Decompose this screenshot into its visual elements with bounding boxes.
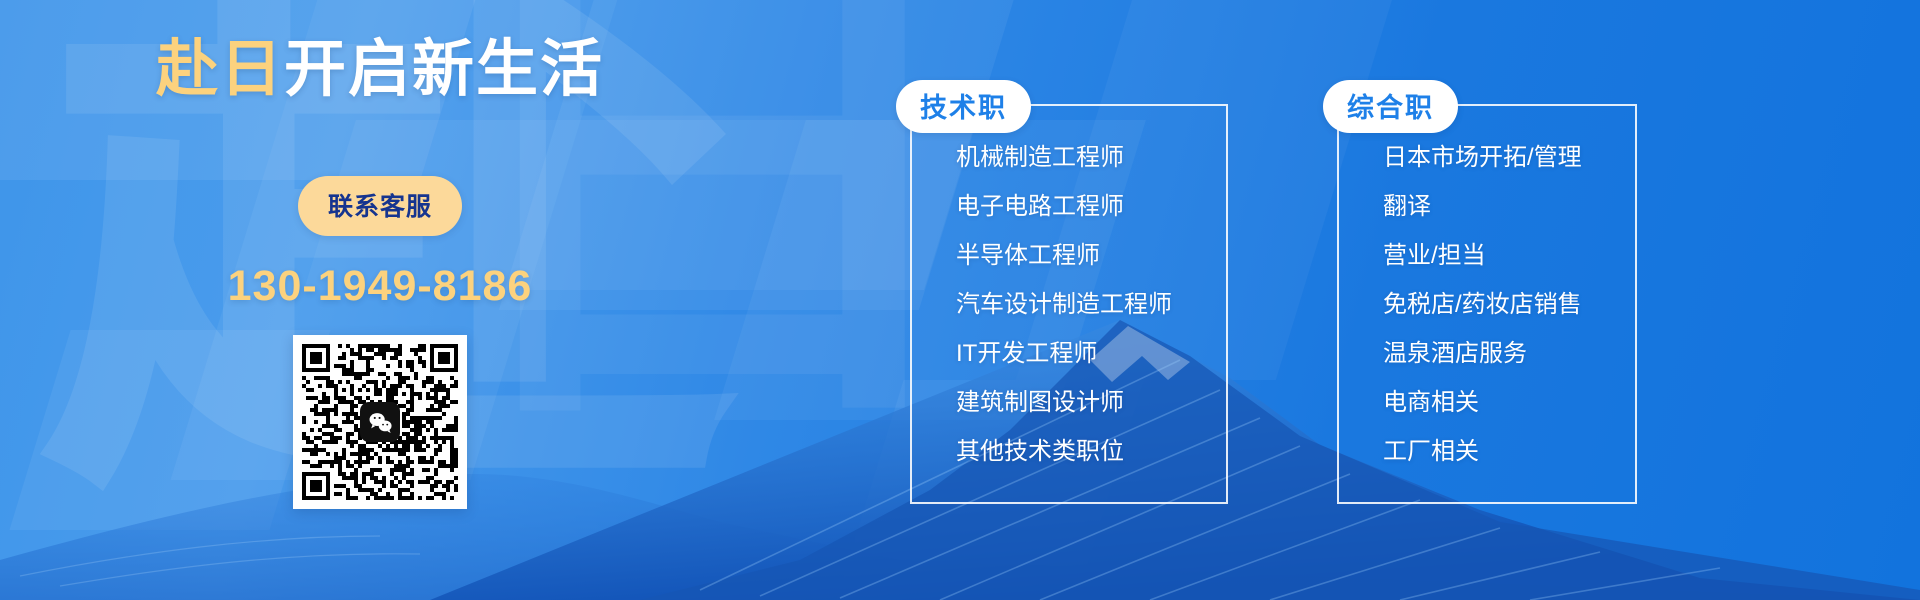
job-list-technical: 机械制造工程师 电子电路工程师 半导体工程师 汽车设计制造工程师 IT开发工程师… xyxy=(956,146,1196,464)
headline-highlight: 赴日 xyxy=(156,35,284,104)
list-item[interactable]: 电子电路工程师 xyxy=(956,195,1196,219)
category-badge-general[interactable]: 综合职 xyxy=(1323,80,1458,133)
phone-number[interactable]: 130-1949-8186 xyxy=(228,262,533,311)
list-item[interactable]: 免税店/药妆店销售 xyxy=(1383,293,1605,317)
list-item[interactable]: 建筑制图设计师 xyxy=(956,391,1196,415)
category-badge-technical[interactable]: 技术职 xyxy=(896,80,1031,133)
list-item[interactable]: 温泉酒店服务 xyxy=(1383,342,1605,366)
list-item[interactable]: 营业/担当 xyxy=(1383,244,1605,268)
contact-support-button[interactable]: 联系客服 xyxy=(298,176,462,236)
list-item[interactable]: 汽车设计制造工程师 xyxy=(956,293,1196,317)
list-item[interactable]: 其他技术类职位 xyxy=(956,440,1196,464)
list-item[interactable]: 机械制造工程师 xyxy=(956,146,1196,170)
job-list-general: 日本市场开拓/管理 翻译 营业/担当 免税店/药妆店销售 温泉酒店服务 电商相关… xyxy=(1383,146,1605,464)
list-item[interactable]: IT开发工程师 xyxy=(956,342,1196,366)
list-item[interactable]: 翻译 xyxy=(1383,195,1605,219)
list-item[interactable]: 电商相关 xyxy=(1383,391,1605,415)
job-category-general: 综合职 日本市场开拓/管理 翻译 营业/担当 免税店/药妆店销售 温泉酒店服务 … xyxy=(1337,104,1637,504)
wechat-qr-code[interactable] xyxy=(293,335,467,509)
job-category-technical: 技术职 机械制造工程师 电子电路工程师 半导体工程师 汽车设计制造工程师 IT开… xyxy=(910,104,1228,504)
wechat-icon xyxy=(360,402,400,442)
list-item[interactable]: 工厂相关 xyxy=(1383,440,1605,464)
list-item[interactable]: 半导体工程师 xyxy=(956,244,1196,268)
headline-rest: 开启新生活 xyxy=(284,35,604,104)
page-title: 赴日开启新生活 xyxy=(156,36,604,104)
promo-banner: 赴 日 xyxy=(0,0,1920,600)
list-item[interactable]: 日本市场开拓/管理 xyxy=(1383,146,1605,170)
left-content-block: 赴日开启新生活 联系客服 130-1949-8186 xyxy=(0,0,760,600)
